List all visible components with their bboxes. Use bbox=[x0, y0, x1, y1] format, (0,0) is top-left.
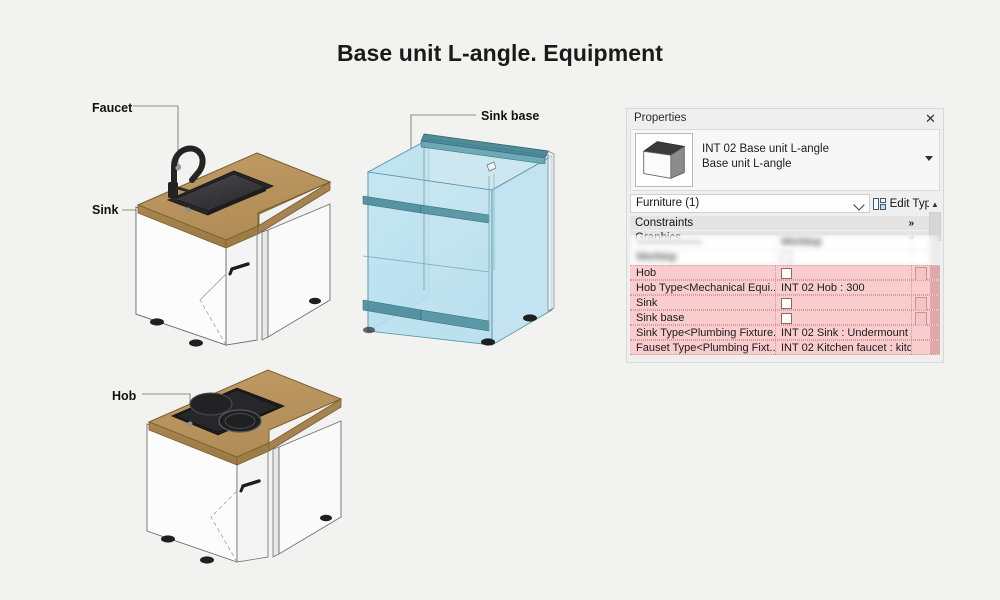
row-strip bbox=[911, 326, 930, 339]
row-strip bbox=[911, 250, 930, 265]
properties-panel-titlebar: Properties ✕ bbox=[627, 109, 943, 128]
parameter-value[interactable] bbox=[776, 311, 911, 324]
row-tail bbox=[930, 341, 940, 354]
parameter-name: Hob bbox=[630, 266, 776, 279]
checkbox[interactable] bbox=[781, 313, 792, 324]
category-row: Furniture (1) Edit Type bbox=[630, 194, 940, 213]
scroll-thumb[interactable] bbox=[915, 312, 927, 326]
parameter-value[interactable]: INT 02 Kitchen faucet : kitche... bbox=[776, 341, 911, 354]
chevron-down-icon[interactable] bbox=[925, 156, 933, 161]
parameter-name: —————— bbox=[630, 235, 776, 250]
parameter-value[interactable]: INT 02 Sink : Undermount bbox=[776, 326, 911, 339]
table-row[interactable]: Hob bbox=[630, 265, 940, 280]
family-name: INT 02 Base unit L-angle bbox=[702, 142, 939, 157]
row-strip bbox=[911, 341, 930, 354]
parameter-value[interactable] bbox=[776, 250, 911, 265]
close-icon[interactable]: ✕ bbox=[922, 110, 939, 127]
table-row[interactable]: Hob Type<Mechanical Equi... INT 02 Hob :… bbox=[630, 280, 940, 295]
table-row[interactable]: —————— Worktop bbox=[630, 235, 940, 250]
parameter-name: Fauset Type<Plumbing Fixt... bbox=[630, 341, 776, 354]
checkbox[interactable] bbox=[781, 298, 792, 309]
scroll-up-arrow-icon[interactable]: ▲ bbox=[929, 198, 941, 211]
table-row[interactable]: Worktop bbox=[630, 250, 940, 265]
parameter-value[interactable]: Worktop bbox=[776, 235, 911, 250]
sink-unit-3d-view bbox=[122, 106, 330, 347]
row-strip[interactable] bbox=[911, 266, 930, 279]
table-row[interactable]: Sink bbox=[630, 295, 940, 310]
chevron-double-down-icon[interactable]: » bbox=[908, 216, 914, 231]
parameter-name: Hob Type<Mechanical Equi... bbox=[630, 281, 776, 294]
row-tail bbox=[930, 266, 940, 279]
parameter-grid: —————— Worktop Worktop Hob bbox=[630, 235, 940, 361]
parameter-name: Sink base bbox=[630, 311, 776, 324]
row-tail bbox=[930, 326, 940, 339]
row-tail bbox=[930, 250, 940, 265]
checkbox[interactable] bbox=[781, 268, 792, 279]
row-strip bbox=[911, 235, 930, 250]
type-selector-text: INT 02 Base unit L-angle Base unit L-ang… bbox=[702, 142, 939, 172]
parameter-value[interactable] bbox=[776, 266, 911, 279]
table-row[interactable]: Fauset Type<Plumbing Fixt... INT 02 Kitc… bbox=[630, 340, 940, 355]
group-header-constraints[interactable]: Constraints » bbox=[630, 216, 940, 231]
sink-base-transparent-3d-view bbox=[363, 115, 554, 346]
scroll-thumb[interactable] bbox=[915, 297, 927, 311]
table-row[interactable]: Sink base bbox=[630, 310, 940, 325]
edit-type-icon bbox=[873, 198, 886, 210]
screenshot-root: Base unit L-angle. Equipment bbox=[0, 0, 1000, 600]
parameter-name: Worktop bbox=[630, 250, 776, 265]
scroll-thumb[interactable] bbox=[915, 267, 927, 281]
parameter-value[interactable]: INT 02 Hob : 300 bbox=[776, 281, 911, 294]
parameter-value[interactable] bbox=[776, 296, 911, 309]
checkbox[interactable] bbox=[781, 252, 792, 263]
properties-panel: Properties ✕ INT 02 Base unit L-angle Ba… bbox=[626, 108, 944, 363]
callout-label-sink-base: Sink base bbox=[481, 109, 539, 123]
table-row[interactable]: Sink Type<Plumbing Fixture... INT 02 Sin… bbox=[630, 325, 940, 340]
row-tail bbox=[930, 235, 940, 250]
callout-label-sink: Sink bbox=[92, 203, 118, 217]
row-strip bbox=[911, 281, 930, 294]
category-value: Furniture (1) bbox=[636, 197, 699, 209]
callout-label-hob: Hob bbox=[112, 389, 136, 403]
hob-unit-3d-view bbox=[142, 370, 341, 564]
callout-label-faucet: Faucet bbox=[92, 101, 132, 115]
row-tail bbox=[930, 281, 940, 294]
row-strip[interactable] bbox=[911, 311, 930, 324]
parameter-name: Sink Type<Plumbing Fixture... bbox=[630, 326, 776, 339]
group-label: Constraints bbox=[635, 217, 693, 229]
type-selector[interactable]: INT 02 Base unit L-angle Base unit L-ang… bbox=[630, 129, 940, 191]
category-select[interactable]: Furniture (1) bbox=[630, 194, 870, 213]
chevron-down-icon bbox=[853, 199, 864, 210]
box-3d-thumbnail-icon bbox=[635, 133, 693, 187]
row-tail bbox=[930, 311, 940, 324]
row-strip[interactable] bbox=[911, 296, 930, 309]
type-name: Base unit L-angle bbox=[702, 157, 939, 172]
row-tail bbox=[930, 296, 940, 309]
properties-panel-title: Properties bbox=[634, 112, 686, 124]
parameter-name: Sink bbox=[630, 296, 776, 309]
